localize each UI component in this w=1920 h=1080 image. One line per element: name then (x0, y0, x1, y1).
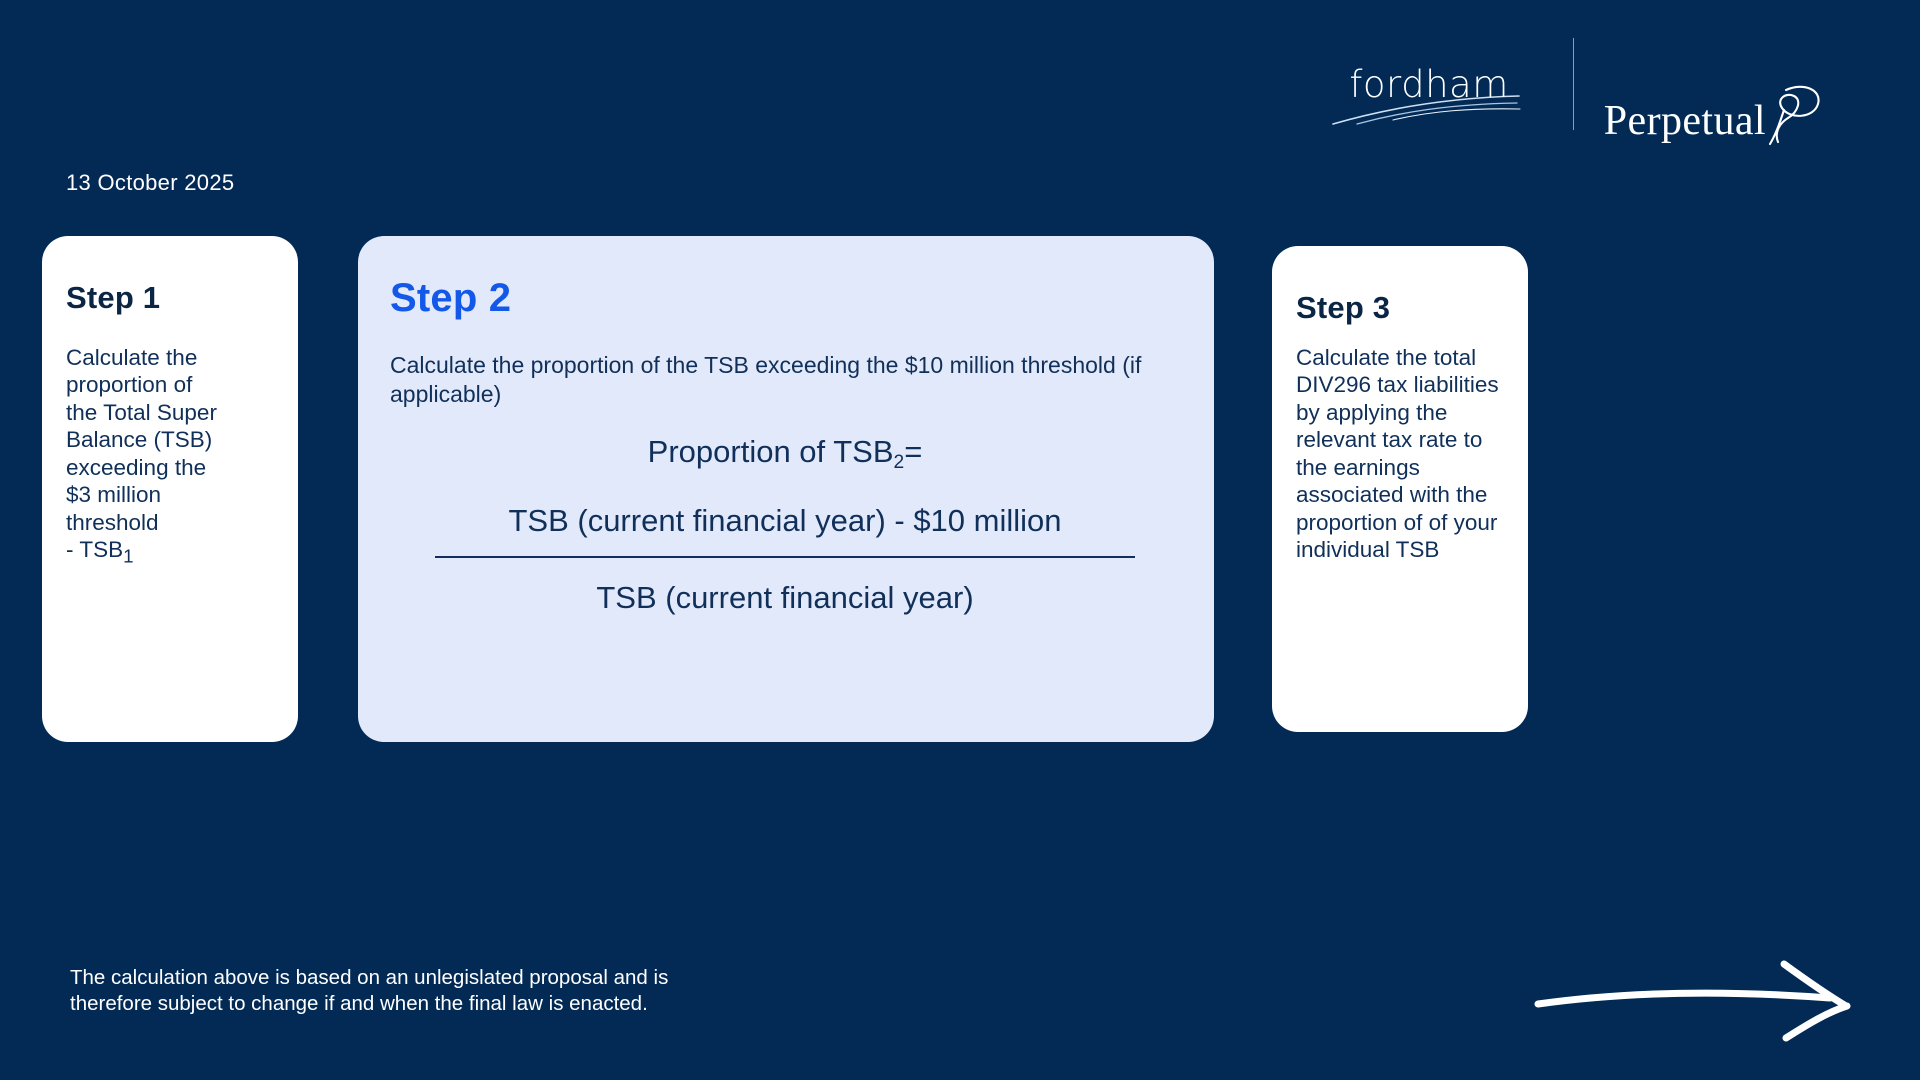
step-1-body-line-2: proportion of (66, 372, 192, 397)
step-1-title: Step 1 (66, 280, 274, 316)
step-1-body-line-3: the Total Super (66, 400, 217, 425)
formula-left-hand-side: Proportion of TSB2= (390, 435, 1180, 469)
logo-divider (1573, 38, 1574, 130)
steps-row: Step 1 Calculate the proportion of the T… (0, 236, 1920, 742)
step-1-body-line-1: Calculate the (66, 345, 197, 370)
step-1-tsb-term: - TSB (66, 537, 123, 562)
perpetual-flourish-icon (1760, 76, 1834, 150)
right-arrow-icon (1534, 954, 1854, 1044)
formula-lhs-subscript: 2 (894, 452, 905, 473)
formula-fraction: TSB (current financial year) - $10 milli… (435, 503, 1135, 616)
perpetual-wordmark: Perpetual (1604, 100, 1766, 142)
fordham-logo: fordham (1349, 38, 1542, 130)
step-1-card: Step 1 Calculate the proportion of the T… (42, 236, 298, 742)
step-3-body: Calculate the total DIV296 tax liabiliti… (1296, 344, 1504, 564)
step-3-title: Step 3 (1296, 290, 1504, 326)
formula-equals-sign: = (904, 434, 922, 469)
fordham-wordmark: fordham (1349, 66, 1508, 103)
step-2-title: Step 2 (390, 276, 1180, 321)
step-1-body-line-4: Balance (TSB) (66, 427, 212, 452)
step-2-card: Step 2 Calculate the proportion of the T… (358, 236, 1214, 742)
formula-lhs-text: Proportion of TSB (648, 434, 894, 469)
step-1-tsb-subscript: 1 (123, 546, 133, 567)
disclaimer-line-2: therefore subject to change if and when … (70, 992, 648, 1015)
step-3-card: Step 3 Calculate the total DIV296 tax li… (1272, 246, 1528, 732)
formula-numerator: TSB (current financial year) - $10 milli… (435, 503, 1135, 557)
step-2-body: Calculate the proportion of the TSB exce… (390, 351, 1180, 409)
step-1-body-line-5: exceeding the (66, 455, 206, 480)
step-1-body-line-7: threshold (66, 510, 159, 535)
step-1-body: Calculate the proportion of the Total Su… (66, 344, 274, 568)
header-logo-lockup: fordham Perpetual (1349, 38, 1834, 130)
date-label: 13 October 2025 (66, 170, 234, 196)
step-2-formula: Proportion of TSB2= TSB (current financi… (390, 435, 1180, 616)
perpetual-logo: Perpetual (1604, 38, 1834, 130)
disclaimer-note: The calculation above is based on an unl… (70, 965, 910, 1018)
formula-denominator: TSB (current financial year) (435, 558, 1135, 616)
step-1-body-line-6: $3 million (66, 482, 161, 507)
disclaimer-line-1: The calculation above is based on an unl… (70, 966, 668, 989)
